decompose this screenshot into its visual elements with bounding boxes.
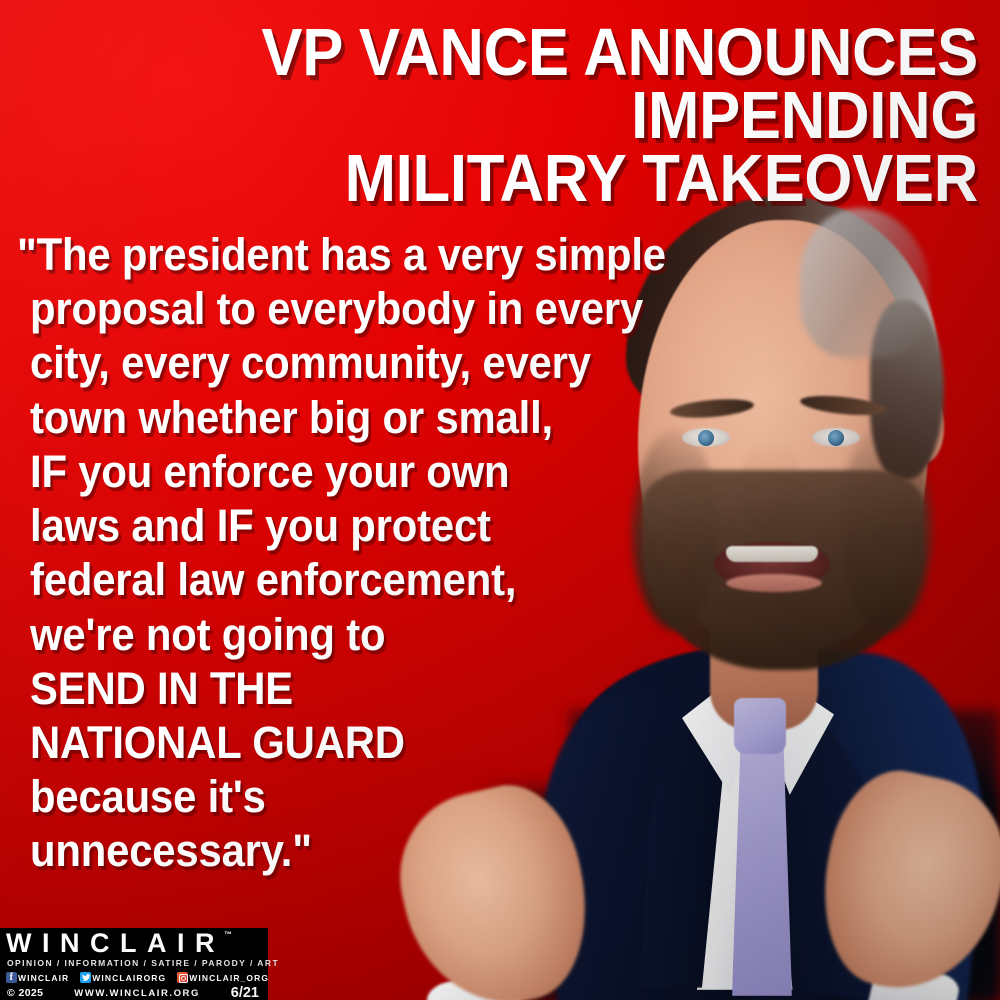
quote-line: proposal to everybody in every bbox=[30, 282, 588, 336]
headline-line-1: VP VANCE ANNOUNCES IMPENDING bbox=[104, 22, 978, 148]
copyright: © 2025 bbox=[7, 987, 43, 999]
necktie-knot bbox=[734, 698, 786, 754]
iris-right bbox=[828, 430, 844, 446]
hair-highlight bbox=[800, 208, 930, 358]
trademark-symbol: ™ bbox=[224, 931, 232, 939]
lower-lip bbox=[726, 574, 822, 592]
social-link-instagram[interactable]: WINCLAIR_ORG bbox=[177, 972, 269, 983]
iris-left bbox=[698, 430, 714, 446]
quote-line: IF you enforce your own bbox=[30, 445, 588, 499]
headline: VP VANCE ANNOUNCES IMPENDING MILITARY TA… bbox=[104, 22, 978, 211]
website-url[interactable]: WWW.WINCLAIR.ORG bbox=[74, 988, 200, 999]
social-links: WINCLAIR WINCLAIRORG WINCLAIR_ORG bbox=[6, 972, 264, 983]
tagline: OPINION / INFORMATION / SATIRE / PARODY … bbox=[7, 958, 279, 968]
quote-line: unnecessary." bbox=[30, 824, 588, 878]
teeth bbox=[726, 546, 818, 562]
instagram-icon bbox=[177, 972, 188, 983]
quote-line: SEND IN THE bbox=[30, 662, 588, 716]
necktie bbox=[732, 746, 792, 996]
footer-bar: WINCLAIR™ OPINION / INFORMATION / SATIRE… bbox=[0, 928, 268, 1000]
poster-canvas: VP VANCE ANNOUNCES IMPENDING MILITARY TA… bbox=[0, 0, 1000, 1000]
footer-bottom-row: © 2025 WWW.WINCLAIR.ORG 6/21 bbox=[7, 986, 261, 1000]
brand-logo-text: WINCLAIR bbox=[6, 928, 225, 958]
page-number: 6/21 bbox=[231, 985, 259, 1000]
social-link-facebook[interactable]: WINCLAIR bbox=[6, 972, 69, 983]
quote-line: laws and IF you protect bbox=[30, 499, 588, 553]
facebook-icon bbox=[6, 972, 17, 983]
quote-block: "The president has a very simple proposa… bbox=[30, 228, 588, 879]
quote-line: city, every community, every bbox=[30, 336, 588, 390]
quote-line: we're not going to bbox=[30, 608, 588, 662]
headline-line-2: MILITARY TAKEOVER bbox=[104, 148, 978, 211]
quote-line: "The president has a very simple bbox=[30, 228, 588, 282]
quote-line: because it's bbox=[30, 770, 588, 824]
quote-line: town whether big or small, bbox=[30, 391, 588, 445]
facebook-handle: WINCLAIR bbox=[18, 973, 69, 983]
quote-line: NATIONAL GUARD bbox=[30, 716, 588, 770]
quote-line: federal law enforcement, bbox=[30, 553, 588, 607]
brand-logo: WINCLAIR™ bbox=[6, 930, 225, 957]
twitter-icon bbox=[80, 972, 91, 983]
social-link-twitter[interactable]: WINCLAIRORG bbox=[80, 972, 166, 983]
instagram-handle: WINCLAIR_ORG bbox=[189, 973, 269, 983]
twitter-handle: WINCLAIRORG bbox=[92, 973, 166, 983]
